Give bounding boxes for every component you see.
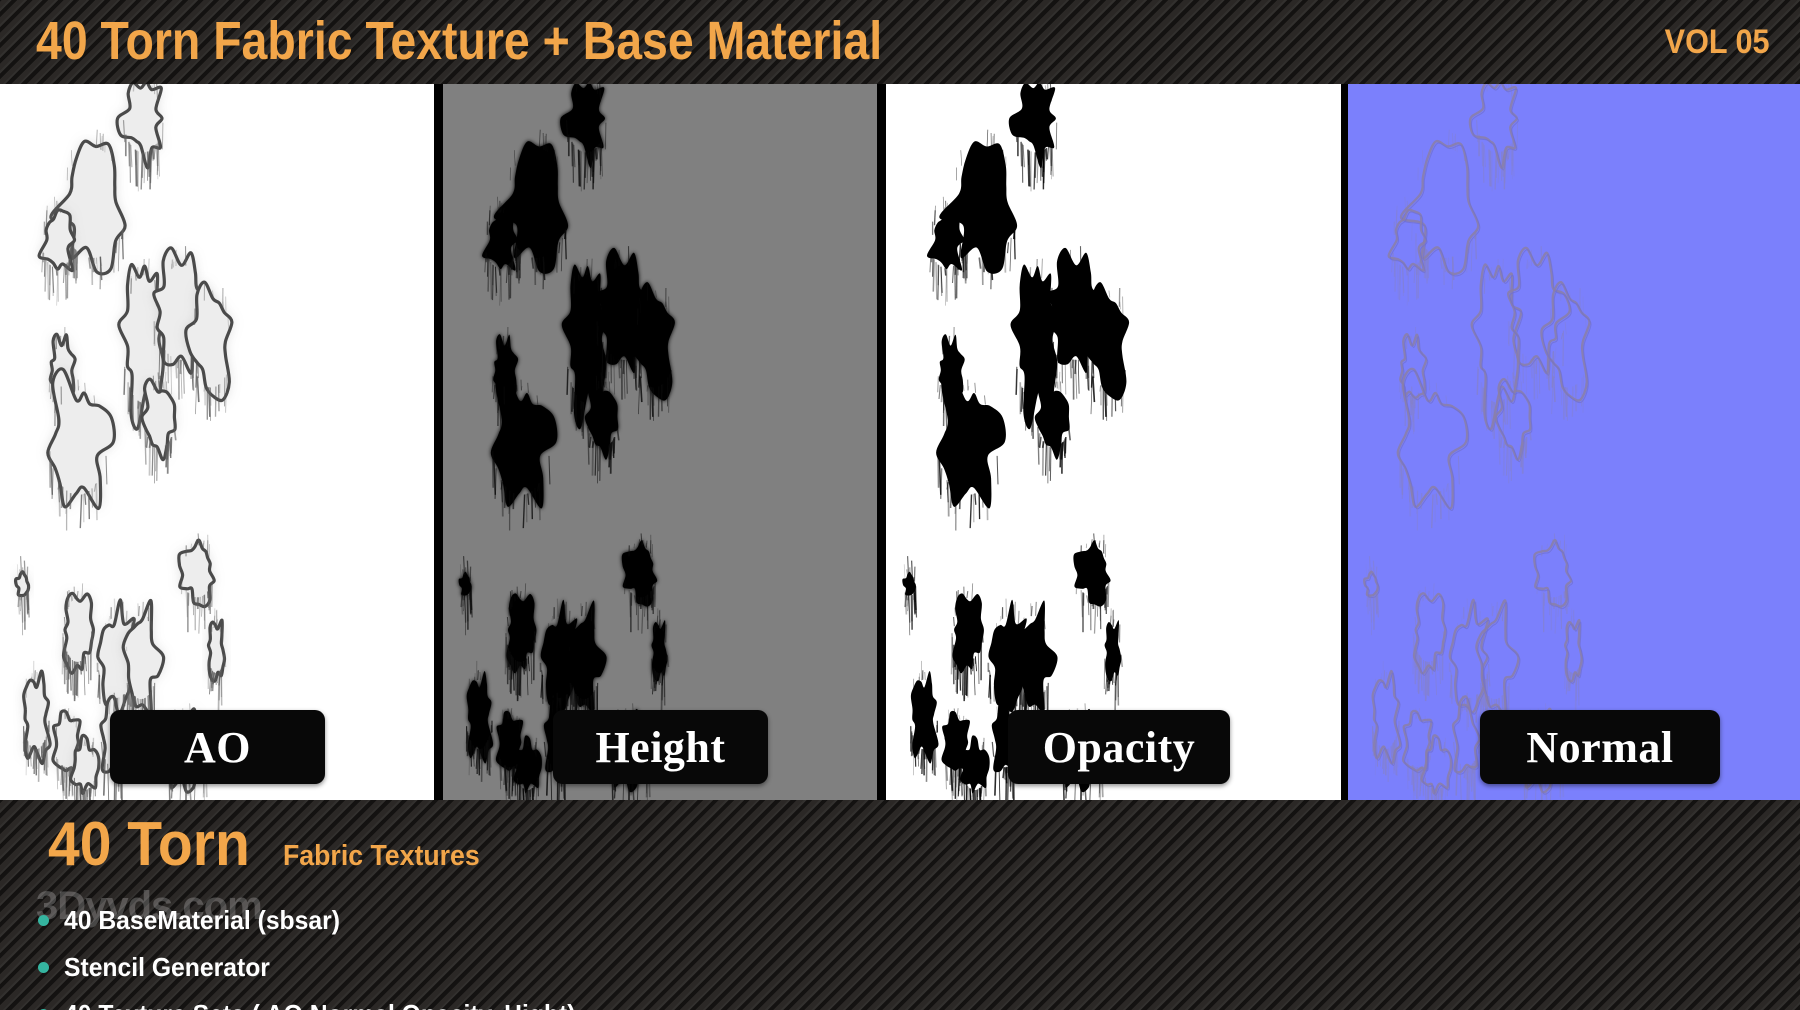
list-item: Stencil Generator [38, 947, 602, 987]
texture-preview-strip: AO Height Opacity Normal [0, 84, 1800, 800]
panel-ao[interactable]: AO [0, 84, 434, 800]
bullet-dot-icon [38, 915, 49, 926]
header-bar: 40 Torn Fabric Texture + Base Material V… [0, 0, 1800, 84]
brand-subtitle: Fabric Textures [283, 842, 480, 871]
footer-bar: 40 Torn Fabric Textures 3Dyvds.com 40 Ba… [0, 800, 1800, 1010]
poster-canvas: 40 Torn Fabric Texture + Base Material V… [0, 0, 1800, 1010]
feature-label: Stencil Generator [64, 954, 270, 980]
panel-label-normal: Normal [1480, 710, 1720, 784]
page-title: 40 Torn Fabric Texture + Base Material [36, 14, 882, 68]
opacity-texture-art [886, 84, 1341, 800]
panel-height[interactable]: Height [443, 84, 877, 800]
feature-list: 40 BaseMaterial (sbsar) Stencil Generato… [38, 900, 602, 1010]
panel-label-opacity: Opacity [1008, 710, 1230, 784]
panel-normal[interactable]: Normal [1348, 84, 1800, 800]
panel-label-ao: AO [110, 710, 325, 784]
feature-label: 40 Texture Sets ( AO,Normal,Opacity, Hig… [64, 1001, 576, 1010]
brand-title: 40 Torn [48, 814, 250, 876]
brand-block: 40 Torn Fabric Textures [48, 814, 497, 876]
list-item: 40 BaseMaterial (sbsar) [38, 900, 602, 940]
panel-label-height: Height [553, 710, 768, 784]
ao-texture-art [0, 84, 434, 800]
bullet-dot-icon [38, 962, 49, 973]
feature-label: 40 BaseMaterial (sbsar) [64, 907, 340, 933]
volume-label: VOL 05 [1665, 25, 1770, 59]
list-item: 40 Texture Sets ( AO,Normal,Opacity, Hig… [38, 994, 602, 1010]
normal-texture-art [1348, 84, 1800, 800]
height-texture-art [443, 84, 877, 800]
panel-opacity[interactable]: Opacity [886, 84, 1341, 800]
